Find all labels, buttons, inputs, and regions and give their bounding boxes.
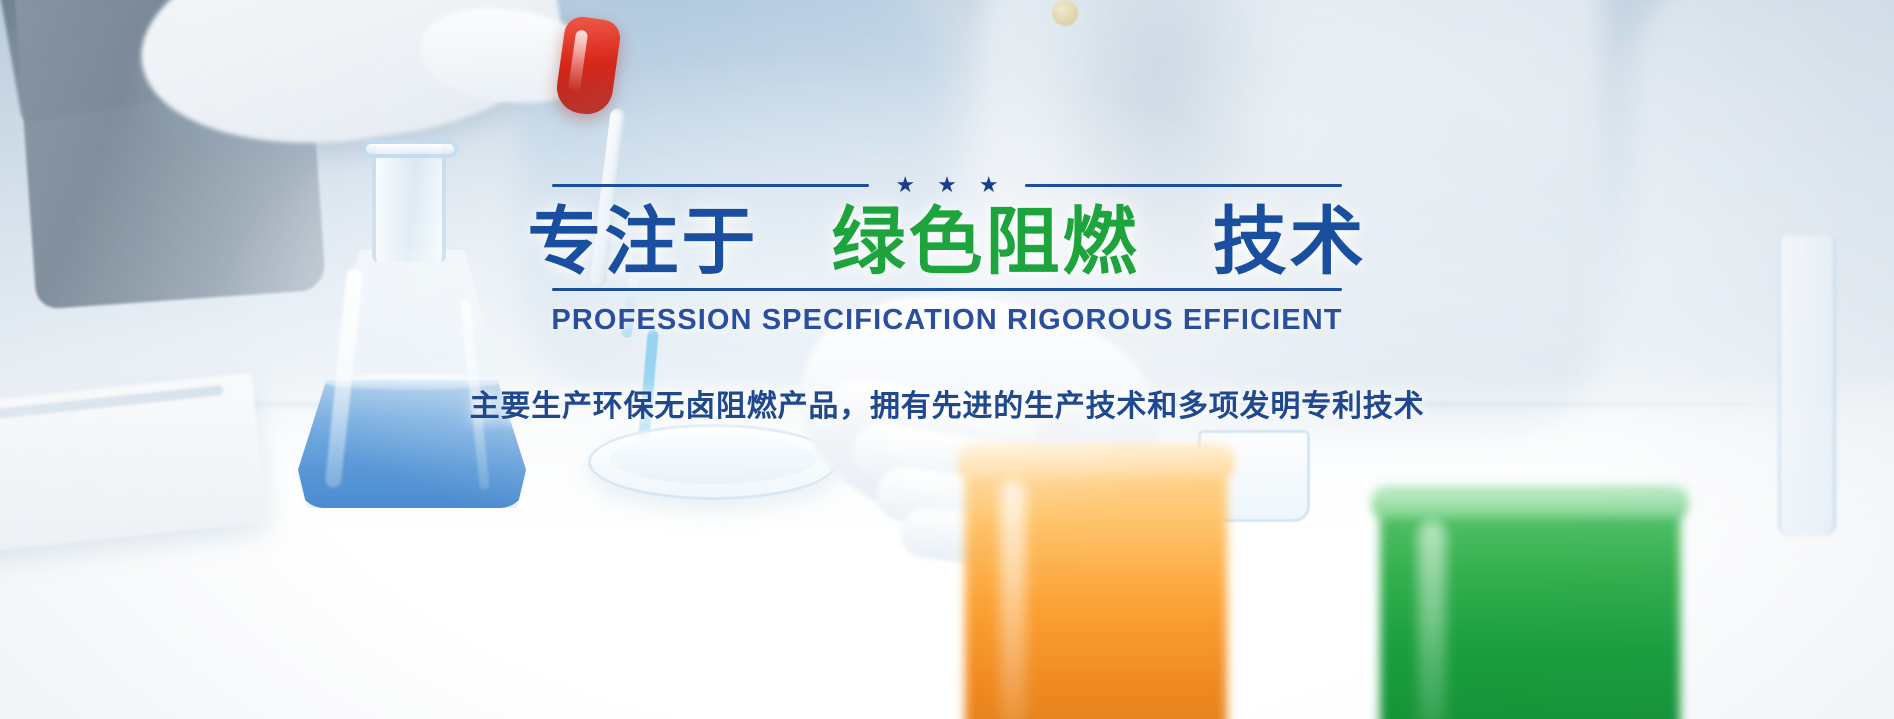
- hero-banner: ★ ★ ★ 专注于 绿色阻燃 技术 PROFESSION SPECIFICATI…: [0, 0, 1894, 719]
- lab-coat-far-right: [1634, 0, 1894, 380]
- flask-neck: [372, 142, 446, 262]
- green-beaker-rim: [1372, 486, 1688, 518]
- lab-background-image: [0, 0, 1894, 719]
- orange-beaker-highlight: [1000, 480, 1026, 719]
- petri-dish-inner: [610, 434, 816, 484]
- green-beaker-highlight: [1418, 520, 1446, 719]
- flask-lip: [362, 140, 458, 158]
- orange-beaker-rim: [958, 444, 1234, 478]
- glass-cylinder: [1778, 236, 1836, 536]
- shoulder-shadow: [1040, 0, 1280, 280]
- coat-button: [1052, 0, 1078, 26]
